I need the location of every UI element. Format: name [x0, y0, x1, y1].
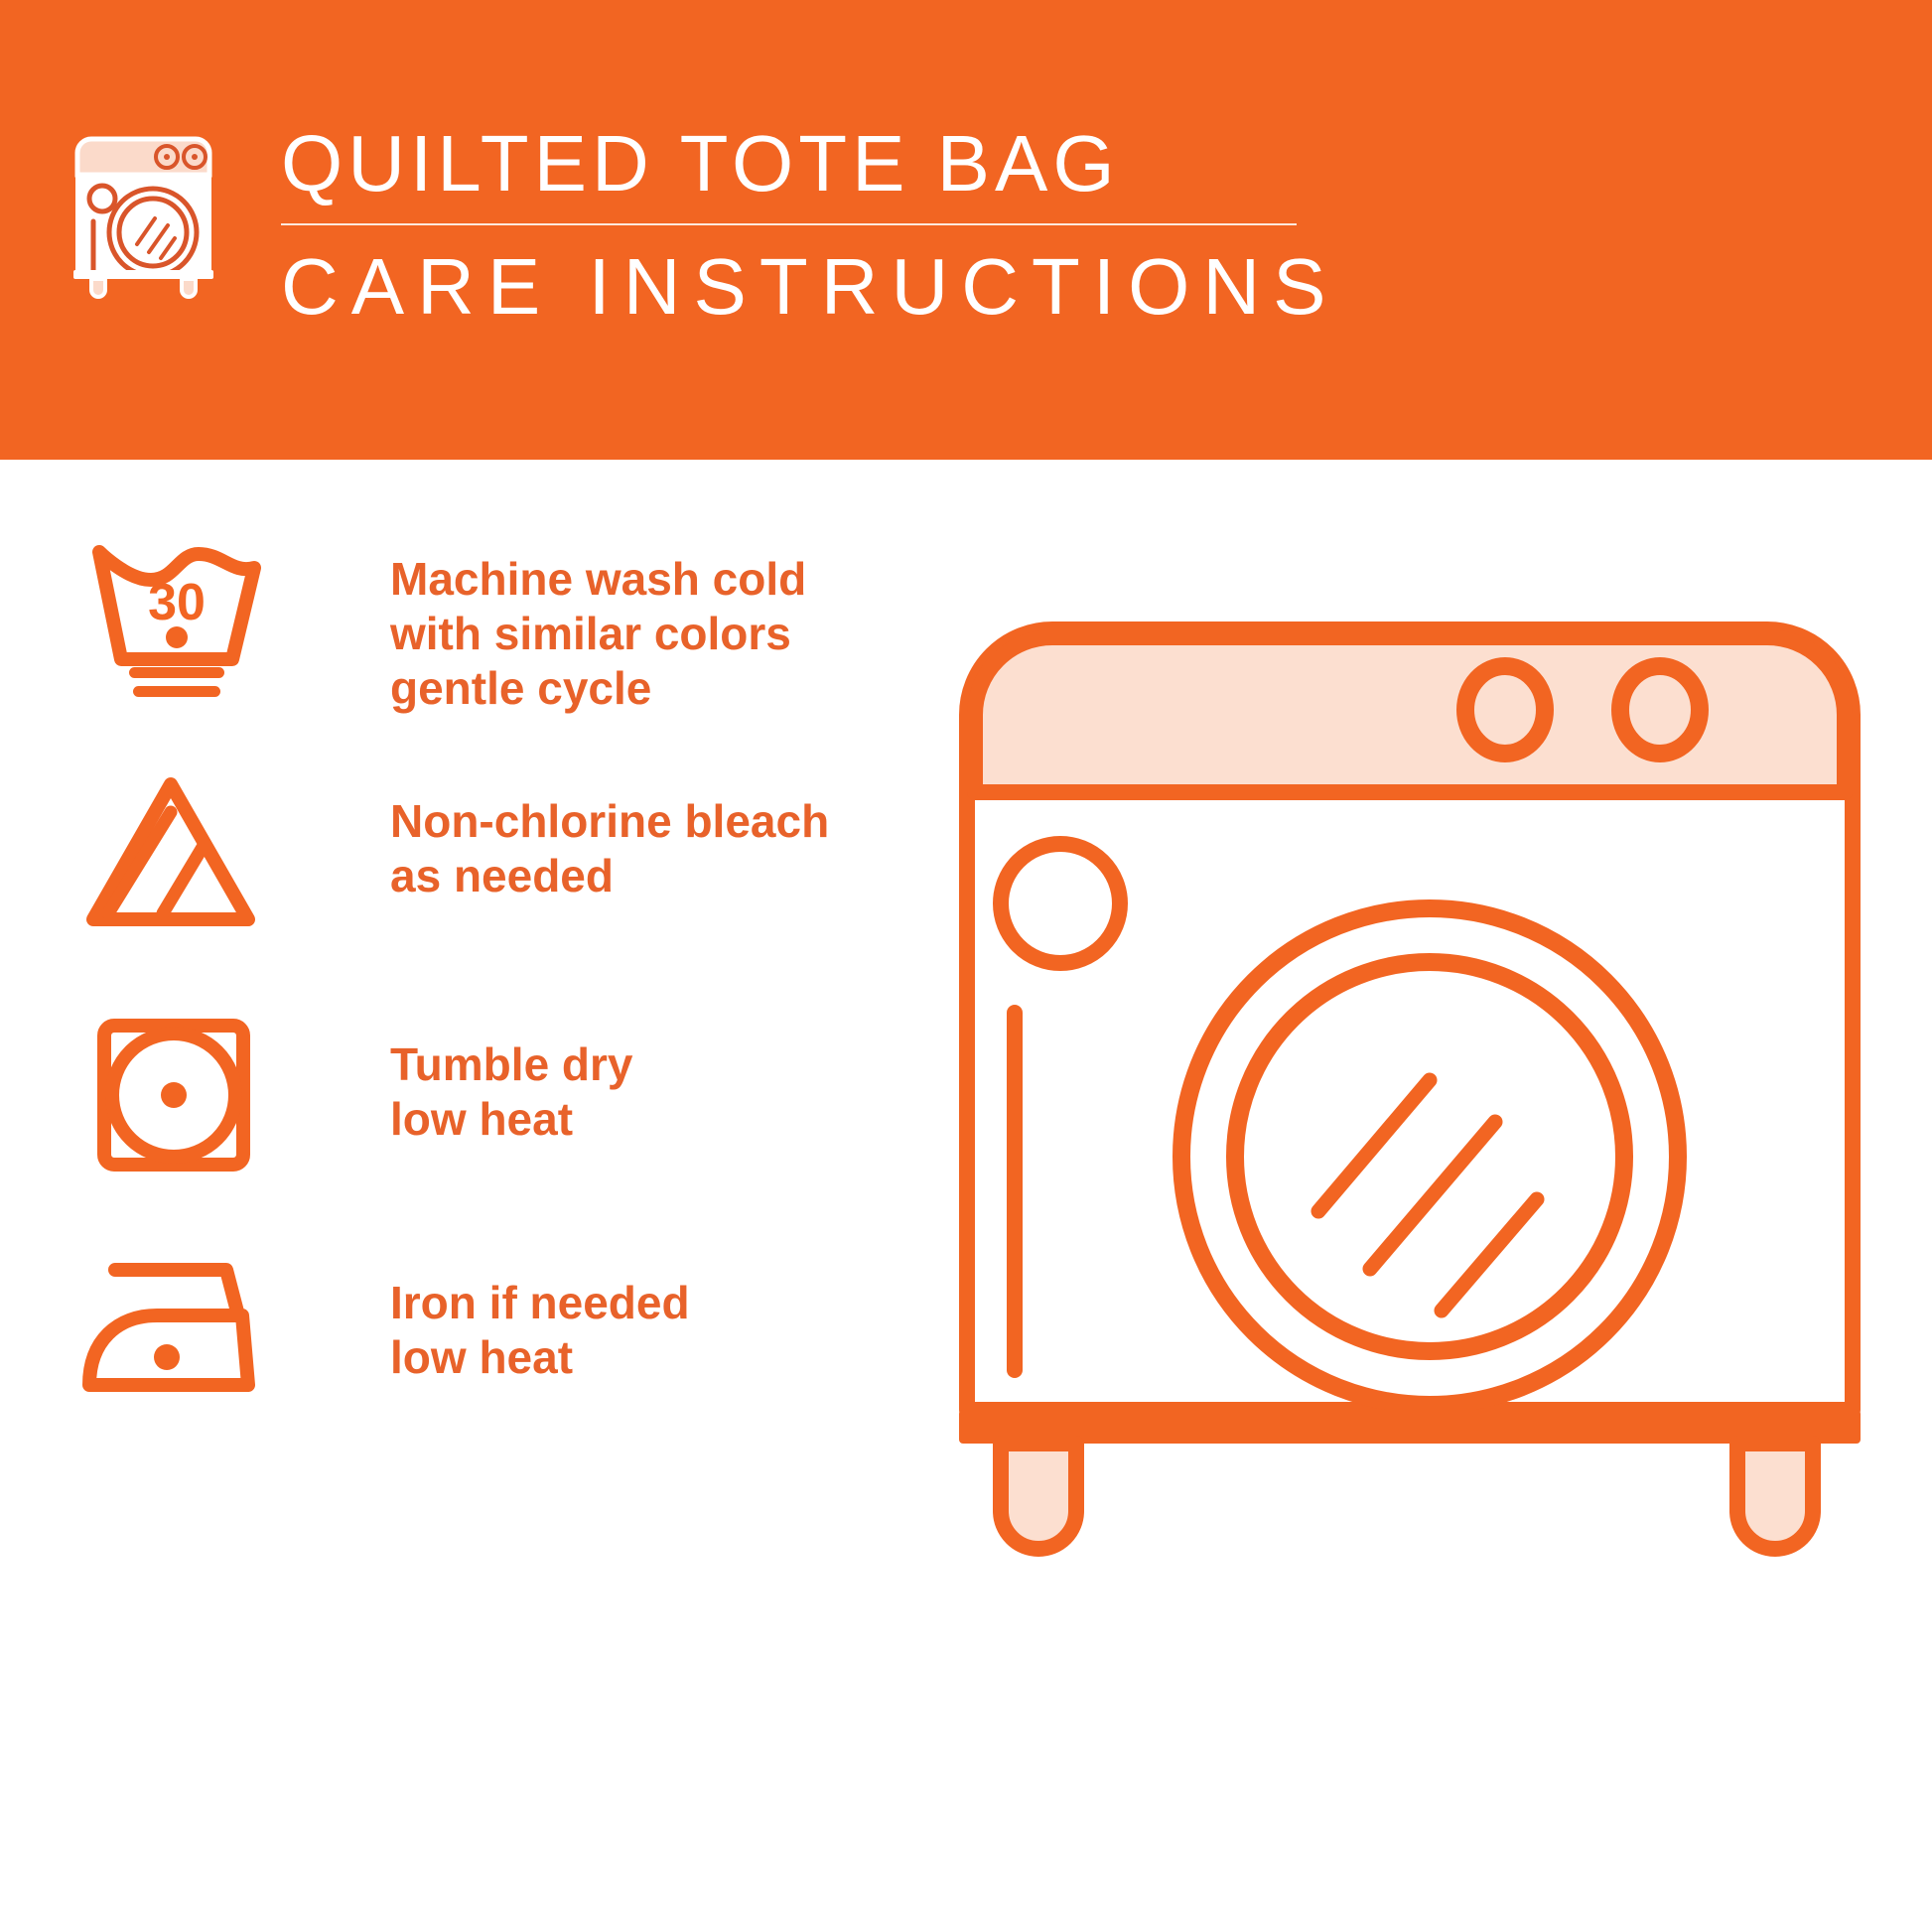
iron-low-heat-icon: [71, 1254, 255, 1403]
care-text-line: Non-chlorine bleach: [390, 794, 829, 849]
title-divider: [281, 223, 1297, 225]
care-text-line: Iron if needed: [390, 1276, 690, 1330]
care-item-tumble-dry-text: Tumble dry low heat: [390, 1037, 633, 1147]
care-text-line: gentle cycle: [390, 661, 806, 716]
care-text-line: as needed: [390, 849, 829, 903]
care-text-line: low heat: [390, 1092, 633, 1147]
care-text-line: Machine wash cold: [390, 552, 806, 607]
care-item-machine-wash: 30 Machine wash cold with similar colors…: [0, 534, 913, 748]
care-item-tumble-dry: Tumble dry low heat: [0, 1016, 913, 1204]
wash-temperature-label: 30: [148, 574, 206, 631]
washer-control-panel: [975, 637, 1845, 792]
washer-base-bar: [959, 1410, 1861, 1444]
front-load-washing-machine-illustration: [953, 616, 1866, 1638]
washing-machine-icon: [71, 127, 215, 286]
care-instruction-list: 30 Machine wash cold with similar colors…: [0, 460, 913, 1932]
care-item-machine-wash-text: Machine wash cold with similar colors ge…: [390, 552, 806, 716]
care-text-line: low heat: [390, 1330, 690, 1385]
care-text-line: Tumble dry: [390, 1037, 633, 1092]
header-banner: QUILTED TOTE BAG CARE INSTRUCTIONS: [0, 0, 1932, 460]
care-text-line: with similar colors: [390, 607, 806, 661]
washer-leg-left: [1001, 1444, 1076, 1549]
wash-tub-30-gentle-icon: 30: [87, 534, 266, 693]
tumble-dry-low-heat-icon: [94, 1016, 253, 1174]
washer-knob-left: [1465, 666, 1545, 754]
care-item-iron: Iron if needed low heat: [0, 1254, 913, 1443]
page-subtitle: CARE INSTRUCTIONS: [281, 247, 1393, 327]
washer-leg-right: [1737, 1444, 1813, 1549]
non-chlorine-bleach-triangle-icon: [83, 772, 262, 931]
page-title: QUILTED TOTE BAG: [281, 124, 1393, 204]
header-text-block: QUILTED TOTE BAG CARE INSTRUCTIONS: [281, 124, 1393, 327]
care-instructions-poster: QUILTED TOTE BAG CARE INSTRUCTIONS 30: [0, 0, 1932, 1932]
care-item-iron-text: Iron if needed low heat: [390, 1276, 690, 1385]
care-item-bleach: Non-chlorine bleach as needed: [0, 772, 913, 961]
care-item-bleach-text: Non-chlorine bleach as needed: [390, 794, 829, 903]
washer-knob-right: [1620, 666, 1700, 754]
washer-door-inner-ring: [1235, 962, 1624, 1351]
